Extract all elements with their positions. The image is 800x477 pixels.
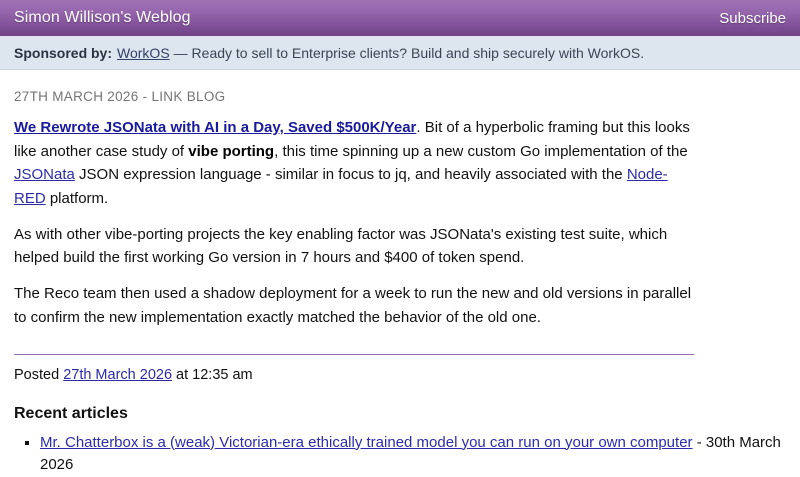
sponsor-text: — Ready to sell to Enterprise clients? B… <box>174 45 645 61</box>
main-content: 27TH MARCH 2026 - LINK BLOG We Rewrote J… <box>0 89 800 477</box>
posted-date-link[interactable]: 27th March 2026 <box>63 367 172 383</box>
recent-articles-list: Mr. Chatterbox is a (weak) Victorian-era… <box>14 432 786 477</box>
entry-meta: 27TH MARCH 2026 - LINK BLOG <box>14 89 786 104</box>
sponsor-bar: Sponsored by:WorkOS— Ready to sell to En… <box>0 36 800 70</box>
recent-article-link[interactable]: Mr. Chatterbox is a (weak) Victorian-era… <box>40 434 693 451</box>
sponsor-link-workos[interactable]: WorkOS <box>117 45 170 61</box>
list-item: Mr. Chatterbox is a (weak) Victorian-era… <box>40 432 786 477</box>
sponsor-label: Sponsored by: <box>14 45 112 61</box>
entry-para1-segment-d: platform. <box>46 190 109 207</box>
entry-bold-term-vibe-porting: vibe porting <box>188 143 274 160</box>
inline-link-jsonata[interactable]: JSONata <box>14 166 75 183</box>
entry-para1-segment-c: JSON expression language - similar in fo… <box>75 166 627 183</box>
posted-prefix: Posted <box>14 367 59 383</box>
posted-suffix: at 12:35 am <box>176 367 253 383</box>
subscribe-link[interactable]: Subscribe <box>719 10 786 27</box>
entry-para1-segment-b: , this time spinning up a new custom Go … <box>274 143 688 160</box>
posted-line: Posted 27th March 2026 at 12:35 am <box>14 367 786 383</box>
entry-paragraph-3: The Reco team then used a shadow deploym… <box>14 282 694 329</box>
recent-articles-heading: Recent articles <box>14 405 786 423</box>
entry-body: We Rewrote JSONata with AI in a Day, Sav… <box>14 116 694 330</box>
entry-divider <box>14 354 694 355</box>
entry-headline-link[interactable]: We Rewrote JSONata with AI in a Day, Sav… <box>14 119 416 136</box>
site-header: Simon Willison's Weblog Subscribe <box>0 0 800 36</box>
entry-paragraph-2: As with other vibe-porting projects the … <box>14 223 694 270</box>
site-title[interactable]: Simon Willison's Weblog <box>14 9 191 27</box>
entry-paragraph-1: We Rewrote JSONata with AI in a Day, Sav… <box>14 116 694 211</box>
